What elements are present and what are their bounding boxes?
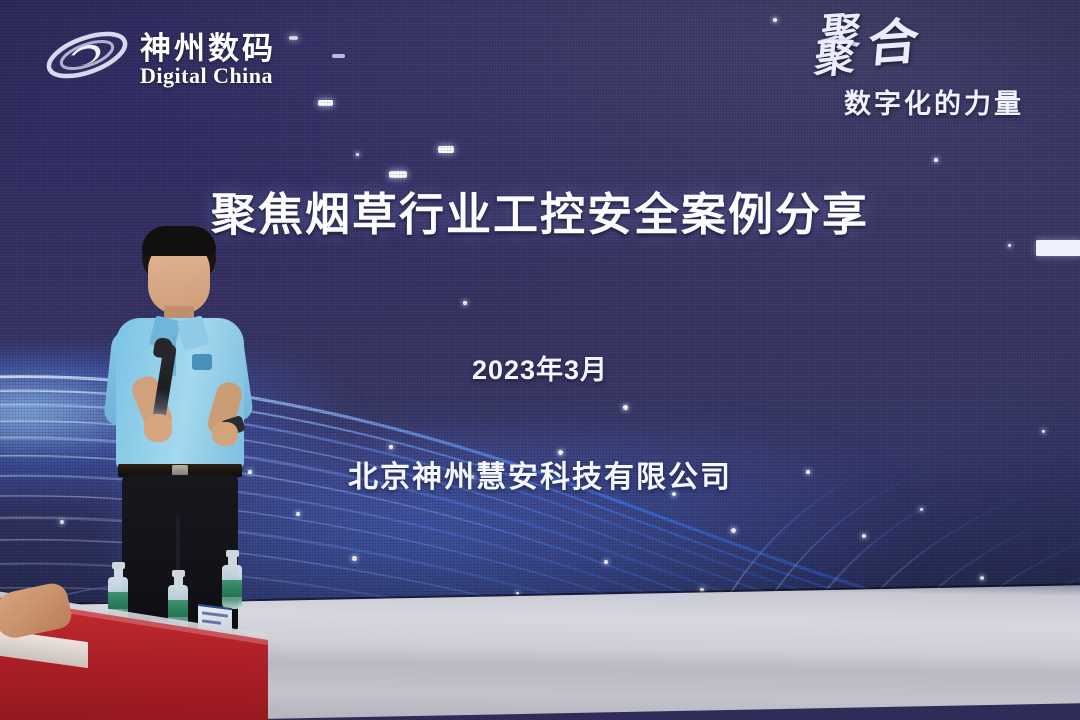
bottle-label (168, 600, 188, 617)
speaker-left-hand (144, 414, 172, 442)
event-calligraphy-mark: 聚 聚 合 数字化的力量 (806, 12, 1068, 120)
bottle-cap (172, 570, 185, 577)
bottle-label (108, 592, 128, 609)
speaker-chest-logo (192, 354, 212, 370)
calligraphy-char-he: 合 (867, 27, 914, 60)
bottle-neck (114, 569, 123, 577)
water-bottle (222, 550, 242, 609)
bottle-neck (174, 577, 183, 585)
bottle-label (222, 580, 242, 597)
microphone-head-icon (153, 337, 174, 360)
bottle-cap (226, 550, 239, 557)
calligraphy-juhe: 聚 聚 合 (812, 7, 969, 83)
calligraphy-char-ju-bottom: 聚 (813, 43, 850, 75)
digital-china-chinese-name: 神州数码 (140, 23, 276, 68)
digital-china-swirl-icon (44, 24, 130, 86)
bottle-neck (228, 557, 237, 565)
slide-accent-bar (1036, 240, 1080, 256)
logo-divider-dash (332, 54, 345, 58)
digital-china-english-name: Digital China (140, 63, 273, 89)
digital-china-logo: 神州数码 Digital China (44, 22, 306, 94)
conference-photo: 神州数码 Digital China 聚 聚 合 数字化的力量 聚焦烟草行业工控… (0, 0, 1080, 720)
bottle-body (222, 565, 242, 609)
speaker-hair-top (142, 226, 216, 256)
event-subtitle: 数字化的力量 (844, 82, 1024, 121)
bottle-cap (112, 562, 125, 569)
speaker-right-hand (212, 422, 238, 446)
name-card-text-line (202, 611, 228, 617)
